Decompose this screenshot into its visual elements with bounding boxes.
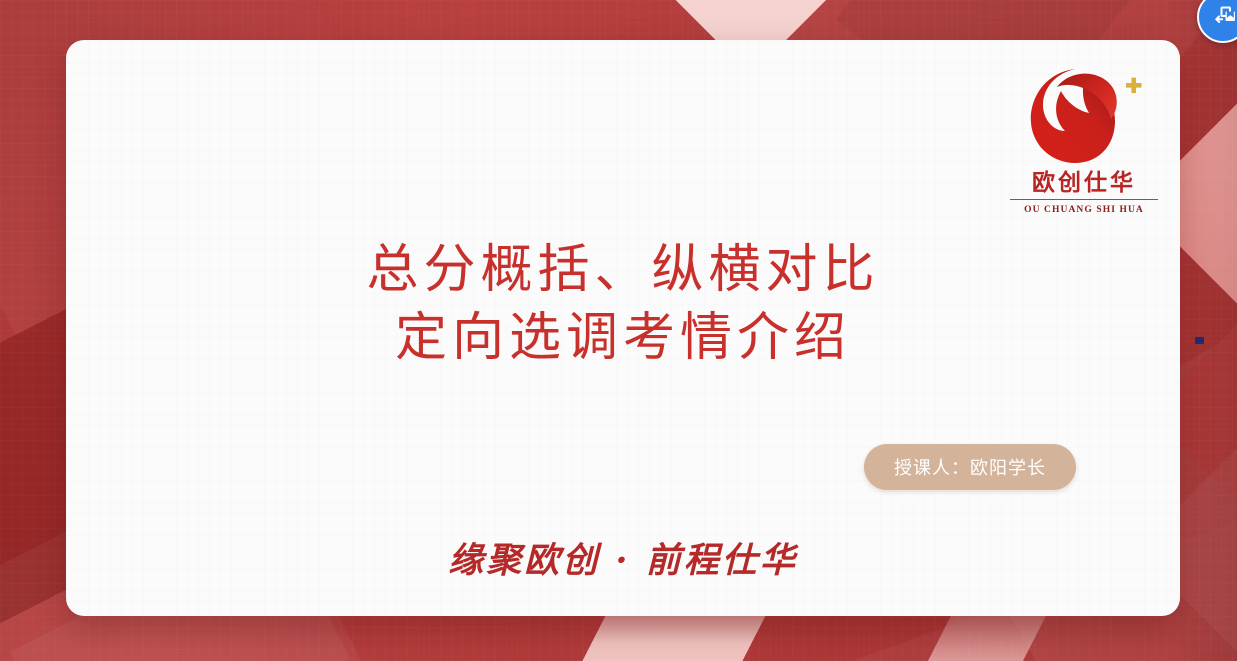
logo-name-pinyin: OU CHUANG SHI HUA bbox=[1006, 205, 1162, 215]
slide-stage: 欧创仕华 OU CHUANG SHI HUA 总分概括、纵横对比 定向选调考情介… bbox=[0, 0, 1237, 661]
instructor-badge: 授课人：欧阳学长 bbox=[864, 444, 1076, 490]
logo-name-cn: 欧创仕华 bbox=[1010, 171, 1158, 200]
title-line-2: 定向选调考情介绍 bbox=[66, 304, 1180, 372]
slide-title: 总分概括、纵横对比 定向选调考情介绍 bbox=[66, 236, 1180, 372]
logo-mark bbox=[1006, 61, 1162, 171]
slide-card: 欧创仕华 OU CHUANG SHI HUA 总分概括、纵横对比 定向选调考情介… bbox=[66, 40, 1180, 616]
abstract-phoenix-mark-icon bbox=[1023, 61, 1145, 169]
instructor-label: 授课人：欧阳学长 bbox=[894, 454, 1046, 480]
slogan-text: 缘聚欧创 · 前程仕华 bbox=[448, 540, 798, 581]
brand-slogan: 缘聚欧创 · 前程仕华 bbox=[66, 532, 1180, 583]
brand-logo: 欧创仕华 OU CHUANG SHI HUA bbox=[1006, 61, 1162, 215]
title-line-1: 总分概括、纵横对比 bbox=[66, 236, 1180, 304]
gold-plus-icon bbox=[1126, 78, 1142, 94]
screenshot-capture-icon bbox=[1210, 4, 1237, 31]
cursor-dot-icon bbox=[1195, 337, 1204, 344]
